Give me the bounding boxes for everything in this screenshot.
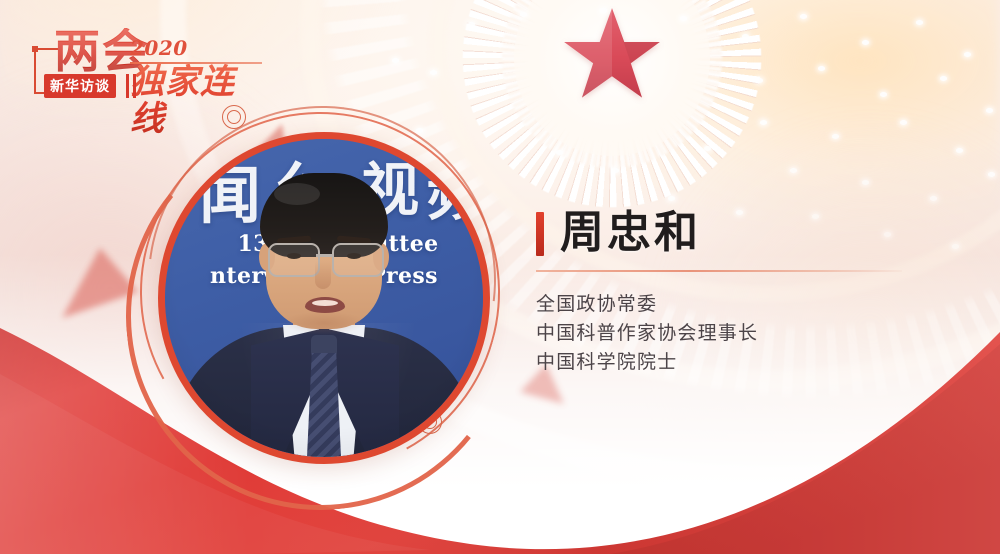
guest-photo: 闻 纟 视 频 13th N mmittee nterviewi in Pres… (158, 132, 490, 464)
logo-decor-bars (126, 74, 140, 98)
guest-photo-inner: 闻 纟 视 频 13th N mmittee nterviewi in Pres… (165, 139, 483, 457)
photo-vignette (165, 139, 483, 457)
logo-year: 2020 (130, 36, 188, 60)
guest-name: 周忠和 (560, 202, 701, 264)
guest-title-line: 中国科学院院士 (536, 348, 956, 377)
panel-divider (536, 270, 902, 272)
logo-subtitle: 独家连线 (130, 64, 264, 139)
program-logo: 两会 2020 独家连线 新华访谈 (34, 22, 264, 114)
broadcast-lower-third-graphic: 闻 纟 视 频 13th N mmittee nterviewi in Pres… (0, 0, 1000, 554)
logo-badge: 新华访谈 (44, 74, 116, 98)
guest-name-row: 周忠和 (536, 206, 956, 264)
guest-info-panel: 周忠和 全国政协常委 中国科普作家协会理事长 中国科学院院士 (536, 206, 956, 378)
name-accent-bar (536, 212, 544, 256)
guest-titles: 全国政协常委 中国科普作家协会理事长 中国科学院院士 (536, 290, 956, 378)
guest-title-line: 全国政协常委 (536, 290, 956, 319)
guest-portrait-module: 闻 纟 视 频 13th N mmittee nterviewi in Pres… (118, 104, 518, 476)
guest-title-line: 中国科普作家协会理事长 (536, 319, 956, 348)
